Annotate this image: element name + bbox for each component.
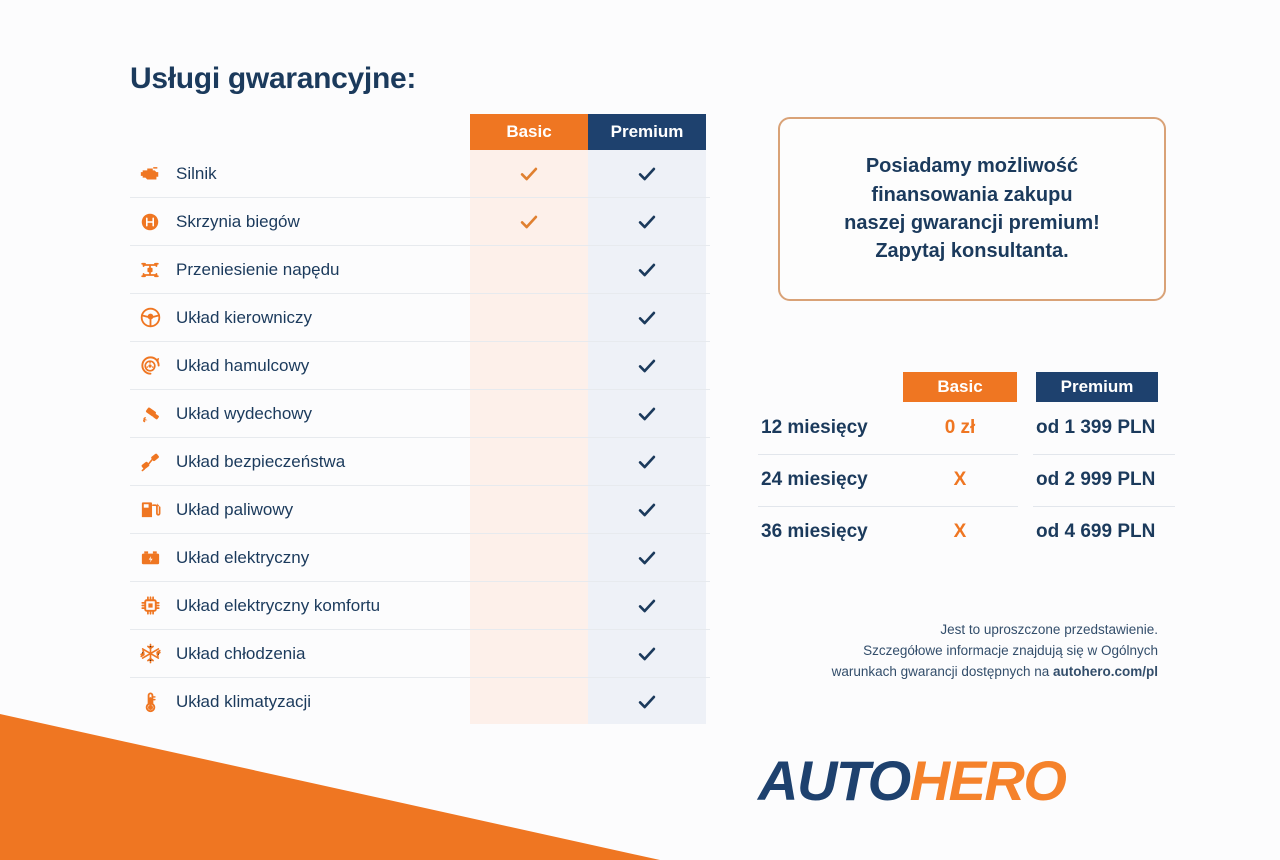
pricing-header-row: Basic Premium	[750, 372, 1175, 402]
pricing-header-premium: Premium	[1036, 372, 1158, 402]
feature-row: Układ hamulcowy	[130, 342, 710, 390]
feature-check-basic	[470, 246, 588, 294]
pricing-basic-value: 0 zł	[903, 402, 1017, 454]
pricing-term: 24 miesięcy	[761, 454, 868, 506]
feature-label: Układ bezpieczeństwa	[170, 452, 345, 472]
thermometer-icon	[130, 691, 170, 714]
feature-check-premium	[588, 342, 706, 390]
feature-check-basic	[470, 342, 588, 390]
feature-row: Układ paliwowy	[130, 486, 710, 534]
feature-check-basic	[470, 438, 588, 486]
logo-text-hero: HERO	[910, 749, 1066, 812]
feature-label: Silnik	[170, 164, 217, 184]
column-header-premium: Premium	[588, 114, 706, 150]
fineprint-line-3: warunkach gwarancji dostępnych na autohe…	[758, 662, 1158, 683]
pricing-term: 36 miesięcy	[761, 506, 868, 558]
feature-check-premium	[588, 150, 706, 198]
feature-row: Układ kierowniczy	[130, 294, 710, 342]
feature-row: Silnik	[130, 150, 710, 198]
pricing-term: 12 miesięcy	[761, 402, 868, 454]
feature-label: Układ wydechowy	[170, 404, 312, 424]
feature-check-premium	[588, 294, 706, 342]
pricing-basic-value: X	[903, 506, 1017, 558]
pricing-table: Basic Premium 12 miesięcy0 złod 1 399 PL…	[750, 372, 1175, 558]
pricing-basic-value: X	[903, 454, 1017, 506]
offer-panel: Posiadamy możliwość finansowania zakupu …	[740, 0, 1280, 852]
autohero-url-link[interactable]: autohero.com/pl	[1053, 664, 1158, 679]
feature-check-basic	[470, 150, 588, 198]
pricing-premium-value: od 2 999 PLN	[1036, 454, 1176, 506]
feature-check-premium	[588, 390, 706, 438]
feature-label: Układ kierowniczy	[170, 308, 312, 328]
feature-label: Przeniesienie napędu	[170, 260, 340, 280]
feature-check-basic	[470, 486, 588, 534]
gearbox-icon	[130, 211, 170, 233]
feature-label: Układ hamulcowy	[170, 356, 309, 376]
promo-line-3: naszej gwarancji premium!	[844, 209, 1100, 237]
logo-text-auto: AUTO	[758, 749, 910, 812]
feature-check-basic	[470, 630, 588, 678]
feature-check-premium	[588, 486, 706, 534]
feature-check-premium	[588, 582, 706, 630]
feature-check-basic	[470, 582, 588, 630]
seatbelt-icon	[130, 450, 170, 473]
feature-check-premium	[588, 630, 706, 678]
feature-check-premium	[588, 246, 706, 294]
pricing-header-basic: Basic	[903, 372, 1017, 402]
feature-label: Układ elektryczny komfortu	[170, 596, 380, 616]
exhaust-icon	[130, 402, 170, 425]
feature-check-basic	[470, 294, 588, 342]
feature-check-basic	[470, 534, 588, 582]
feature-row: Skrzynia biegów	[130, 198, 710, 246]
snowflake-icon	[130, 642, 170, 665]
chip-icon	[130, 594, 170, 617]
promo-line-2: finansowania zakupu	[871, 181, 1072, 209]
feature-row: Układ bezpieczeństwa	[130, 438, 710, 486]
feature-check-premium	[588, 198, 706, 246]
fineprint-line-2: Szczegółowe informacje znajdują się w Og…	[758, 641, 1158, 662]
feature-table: SilnikSkrzynia biegówPrzeniesienie napęd…	[130, 150, 710, 726]
feature-check-basic	[470, 390, 588, 438]
feature-row: Przeniesienie napędu	[130, 246, 710, 294]
feature-row: Układ chłodzenia	[130, 630, 710, 678]
pricing-row: 24 miesięcyXod 2 999 PLN	[750, 454, 1175, 506]
promo-line-1: Posiadamy możliwość	[866, 152, 1078, 180]
feature-row: Układ klimatyzacji	[130, 678, 710, 726]
fineprint-line-1: Jest to uproszczone przedstawienie.	[758, 620, 1158, 641]
battery-icon	[130, 546, 170, 569]
fineprint-line-3-text: warunkach gwarancji dostępnych na	[832, 664, 1053, 679]
feature-label: Układ chłodzenia	[170, 644, 305, 664]
column-header-basic: Basic	[470, 114, 588, 150]
feature-check-basic	[470, 198, 588, 246]
financing-promo-box: Posiadamy możliwość finansowania zakupu …	[778, 117, 1166, 301]
feature-label: Układ paliwowy	[170, 500, 293, 520]
promo-line-4: Zapytaj konsultanta.	[875, 237, 1068, 265]
feature-check-premium	[588, 438, 706, 486]
fineprint-disclaimer: Jest to uproszczone przedstawienie. Szcz…	[758, 620, 1158, 683]
feature-row: Układ elektryczny	[130, 534, 710, 582]
pricing-row: 12 miesięcy0 złod 1 399 PLN	[750, 402, 1175, 454]
drivetrain-icon	[130, 259, 170, 281]
feature-row: Układ elektryczny komfortu	[130, 582, 710, 630]
engine-icon	[130, 163, 170, 185]
steering-wheel-icon	[130, 306, 170, 329]
feature-label: Układ elektryczny	[170, 548, 309, 568]
pricing-row: 36 miesięcyXod 4 699 PLN	[750, 506, 1175, 558]
feature-check-basic	[470, 678, 588, 726]
pricing-premium-value: od 4 699 PLN	[1036, 506, 1176, 558]
feature-row: Układ wydechowy	[130, 390, 710, 438]
feature-label: Skrzynia biegów	[170, 212, 300, 232]
page-title: Usługi gwarancyjne:	[130, 62, 416, 96]
autohero-logo: AUTOHERO	[758, 748, 1065, 813]
brake-disc-icon	[130, 354, 170, 377]
feature-label: Układ klimatyzacji	[170, 692, 311, 712]
warranty-services-panel: Usługi gwarancyjne: Basic Premium Silnik…	[0, 0, 740, 852]
feature-check-premium	[588, 534, 706, 582]
pricing-premium-value: od 1 399 PLN	[1036, 402, 1176, 454]
feature-check-premium	[588, 678, 706, 726]
fuel-pump-icon	[130, 498, 170, 521]
